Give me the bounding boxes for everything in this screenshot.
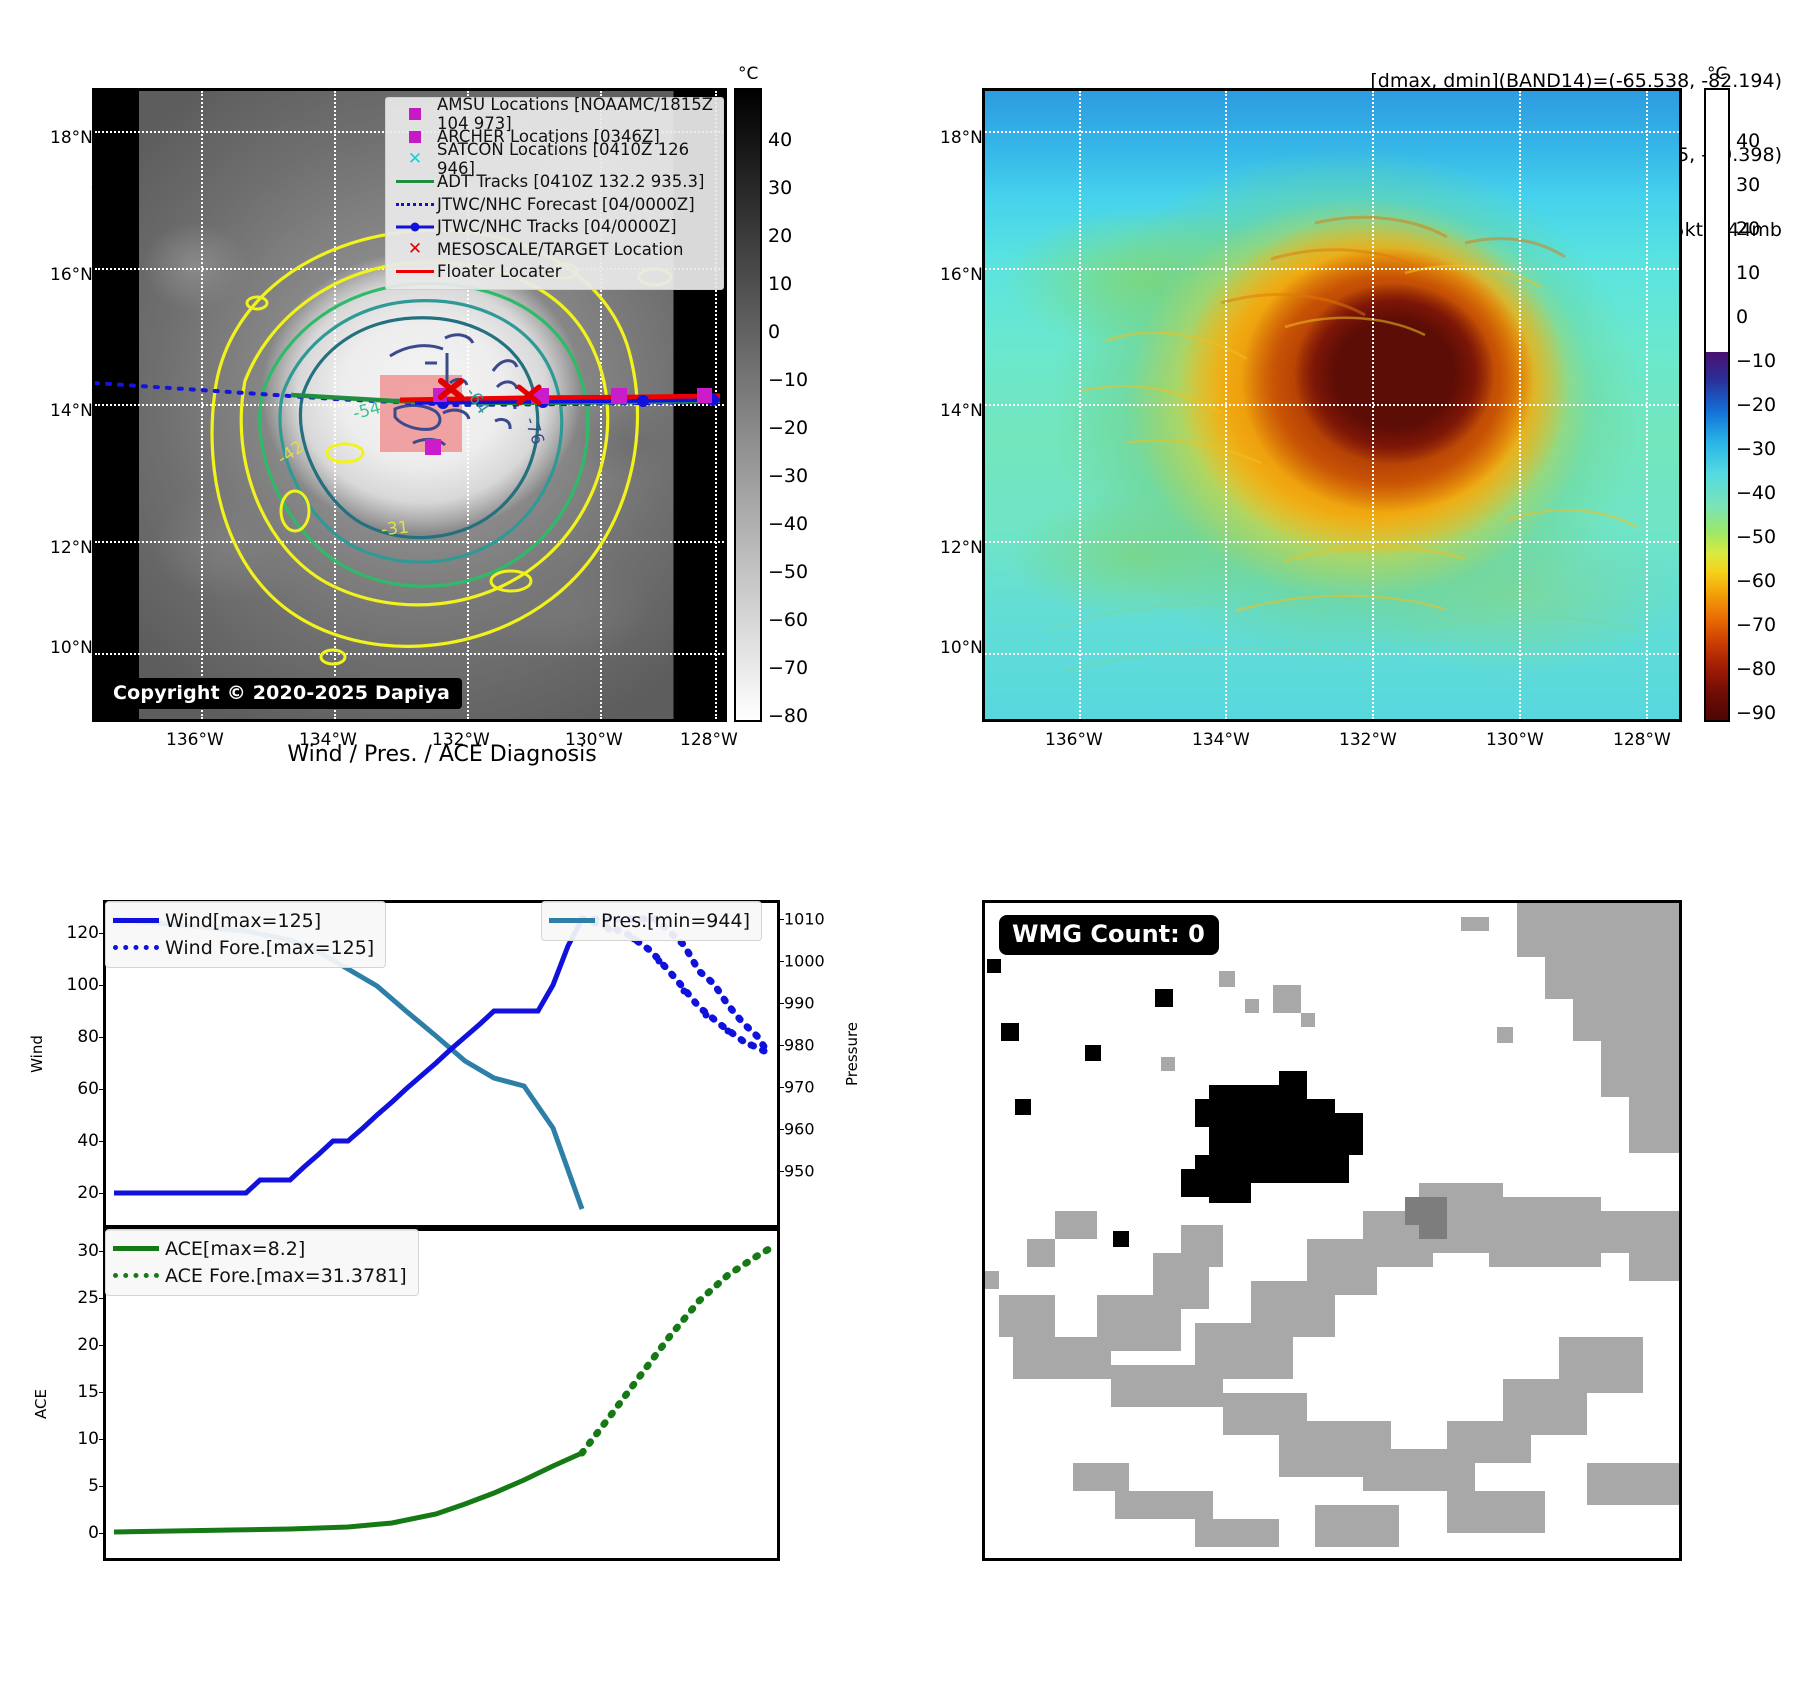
ace-ytick: 0 xyxy=(88,1523,99,1543)
wmg-cell xyxy=(1545,957,1682,999)
contour-label: -31 xyxy=(380,518,410,541)
tick-mark xyxy=(99,1193,106,1194)
wmg-cell xyxy=(1245,999,1259,1013)
cb-tick: 20 xyxy=(1736,218,1760,240)
wmg-cell xyxy=(1155,989,1173,1007)
cb-tick: 20 xyxy=(768,225,792,247)
graticule-line xyxy=(985,404,1679,406)
wmg-core xyxy=(1307,1099,1335,1127)
wmg-cell xyxy=(1419,1225,1447,1239)
graticule-line xyxy=(985,131,1679,133)
wmg-cell xyxy=(1461,917,1489,931)
pressure-ytick: 1000 xyxy=(784,952,825,971)
awv-colorbar[interactable] xyxy=(1704,88,1730,722)
dotted-line-icon xyxy=(113,945,165,950)
legend-label: ACE Fore.[max=31.3781] xyxy=(165,1265,407,1287)
cb-tick: −30 xyxy=(1736,438,1776,460)
legend-label: ACE[max=8.2] xyxy=(165,1238,305,1260)
square-marker-icon xyxy=(393,108,437,120)
pressure-ytick: 990 xyxy=(784,994,815,1013)
wmg-cell xyxy=(1085,1045,1101,1061)
wind-ytick: 100 xyxy=(67,975,99,995)
tick-mark xyxy=(99,1439,106,1440)
legend-item-satcon: ✕ SATCON Locations [0410Z 126 946] xyxy=(393,148,714,171)
cb-tick: 0 xyxy=(768,321,780,343)
legend-label: MESOSCALE/TARGET Location xyxy=(437,240,683,259)
dotted-line-icon xyxy=(113,1273,165,1278)
wmg-cell xyxy=(1573,1211,1682,1253)
wmg-cell xyxy=(1301,1013,1315,1027)
ace-axis-title: ACE xyxy=(32,1389,50,1419)
cb-tick: 0 xyxy=(1736,306,1748,328)
pressure-ytick: 980 xyxy=(784,1036,815,1055)
square-marker-icon xyxy=(393,131,437,143)
tick-mark xyxy=(99,985,106,986)
wmg-cell xyxy=(987,959,1001,973)
ir-lat-tick: 10°N xyxy=(50,638,93,658)
awv-satellite-image[interactable] xyxy=(982,88,1682,722)
legend-item-amsu: AMSU Locations [NOAAMC/1815Z 104 973] xyxy=(393,103,714,126)
solid-line-icon xyxy=(393,180,437,183)
wmg-cell xyxy=(1219,971,1235,987)
legend-item-pressure: Pres.[min=944] xyxy=(549,907,750,934)
wind-axis-title: Wind xyxy=(28,1035,46,1073)
ir-lat-tick: 12°N xyxy=(50,538,93,558)
legend-item-forecast: JTWC/NHC Forecast [04/0000Z] xyxy=(393,193,714,216)
ir-satellite-image[interactable]: x -42 -54 -64 -76 -31 AMSU Locations [NO… xyxy=(92,88,727,722)
wmg-cell xyxy=(1629,1097,1682,1153)
wmg-cell xyxy=(1405,1197,1447,1225)
legend-item-tracks: JTWC/NHC Tracks [04/0000Z] xyxy=(393,216,714,239)
wmg-cell xyxy=(1315,1505,1399,1547)
ace-ytick: 10 xyxy=(77,1429,99,1449)
pressure-ytick: 950 xyxy=(784,1162,815,1181)
pressure-legend: Pres.[min=944] xyxy=(541,901,762,941)
wmg-count-badge: WMG Count: 0 xyxy=(999,915,1219,955)
wind-pressure-chart[interactable]: 20 40 60 80 100 120 1010 1000 990 980 97… xyxy=(103,900,780,1228)
cb-tick: −50 xyxy=(768,561,808,583)
wmg-cell xyxy=(1015,1099,1031,1115)
tick-mark xyxy=(99,1486,106,1487)
awv-lat-tick: 12°N xyxy=(940,538,983,558)
solid-line-icon xyxy=(113,918,165,923)
wmg-cell xyxy=(1181,1225,1223,1267)
cb-tick: −60 xyxy=(1736,570,1776,592)
legend-item-ace-forecast: ACE Fore.[max=31.3781] xyxy=(113,1262,407,1289)
awv-texture-overlay xyxy=(985,91,1682,722)
awv-lon-tick: 132°W xyxy=(1339,730,1397,750)
wmg-cell xyxy=(985,1271,999,1289)
wmg-cell xyxy=(1273,985,1301,1013)
wmg-cell xyxy=(1161,1057,1175,1071)
awv-lon-tick: 130°W xyxy=(1486,730,1544,750)
cb-tick: 40 xyxy=(1736,130,1760,152)
awv-lat-tick: 10°N xyxy=(940,638,983,658)
awv-colorbar-unit: °C xyxy=(1707,64,1727,84)
wmg-cell xyxy=(1001,1023,1019,1041)
solid-line-icon xyxy=(393,270,437,273)
ir-legend: AMSU Locations [NOAAMC/1815Z 104 973] AR… xyxy=(385,97,724,290)
graticule-line xyxy=(985,653,1679,655)
cb-tick: 30 xyxy=(768,177,792,199)
tick-mark xyxy=(777,961,784,962)
tick-mark xyxy=(99,1392,106,1393)
pressure-ytick: 960 xyxy=(784,1120,815,1139)
x-marker-icon: ✕ xyxy=(393,151,437,168)
solid-line-icon xyxy=(113,1246,165,1251)
wind-ytick: 60 xyxy=(77,1079,99,1099)
wmg-cell xyxy=(1559,1337,1643,1393)
awv-lat-tick: 14°N xyxy=(940,401,983,421)
wmg-cell xyxy=(1601,1041,1682,1097)
ir-lat-tick: 14°N xyxy=(50,401,93,421)
cb-tick: −10 xyxy=(1736,350,1776,372)
ace-ytick: 5 xyxy=(88,1476,99,1496)
legend-label: JTWC/NHC Forecast [04/0000Z] xyxy=(437,195,695,214)
wind-legend: Wind[max=125] Wind Fore.[max=125] xyxy=(105,901,386,968)
wind-ytick: 20 xyxy=(77,1183,99,1203)
x-marker-icon: ✕ xyxy=(393,241,437,258)
graticule-line xyxy=(985,541,1679,543)
graticule-line xyxy=(985,268,1679,270)
tick-mark xyxy=(777,1087,784,1088)
line-with-dot-icon xyxy=(393,221,437,233)
cb-tick: −20 xyxy=(768,417,808,439)
tick-mark xyxy=(99,1089,106,1090)
wind-ytick: 120 xyxy=(67,923,99,943)
cb-tick: −60 xyxy=(768,609,808,631)
wind-ytick: 40 xyxy=(77,1131,99,1151)
cb-tick: −70 xyxy=(1736,614,1776,636)
wmg-cell xyxy=(1587,1463,1682,1505)
wmg-core xyxy=(1209,1183,1251,1203)
wmg-cell xyxy=(1055,1211,1097,1239)
ace-ytick: 30 xyxy=(77,1241,99,1261)
cb-tick: −30 xyxy=(768,465,808,487)
legend-item-ace: ACE[max=8.2] xyxy=(113,1235,407,1262)
cb-tick: −90 xyxy=(1736,702,1776,724)
tick-mark xyxy=(777,1045,784,1046)
legend-item-mesoscale: ✕ MESOSCALE/TARGET Location xyxy=(393,238,714,261)
cb-tick: −80 xyxy=(768,705,808,727)
legend-label: Wind Fore.[max=125] xyxy=(165,937,374,959)
tick-mark xyxy=(777,1003,784,1004)
awv-lon-tick: 136°W xyxy=(1045,730,1103,750)
dotted-line-icon xyxy=(393,203,437,206)
cb-tick: −20 xyxy=(1736,394,1776,416)
wmg-cell xyxy=(999,1295,1055,1337)
diagnosis-title: Wind / Pres. / ACE Diagnosis xyxy=(92,742,792,767)
legend-item-wind: Wind[max=125] xyxy=(113,907,374,934)
tick-mark xyxy=(99,1533,106,1534)
legend-label: Pres.[min=944] xyxy=(601,910,750,932)
ir-lat-tick: 18°N xyxy=(50,128,93,148)
ir-colorbar-unit: °C xyxy=(738,64,758,84)
ace-ytick: 15 xyxy=(77,1382,99,1402)
wmg-core xyxy=(1279,1071,1307,1099)
tick-mark xyxy=(99,1141,106,1142)
legend-label: Floater Locater xyxy=(437,262,562,281)
ace-ytick: 25 xyxy=(77,1288,99,1308)
pressure-ytick: 970 xyxy=(784,1078,815,1097)
wmg-cell xyxy=(1517,903,1682,957)
cb-tick: −40 xyxy=(768,513,808,535)
cb-tick: −10 xyxy=(768,369,808,391)
cb-tick: 10 xyxy=(768,273,792,295)
pressure-axis-title: Pressure xyxy=(843,1022,861,1086)
wind-ytick: 80 xyxy=(77,1027,99,1047)
wmg-map[interactable]: WMG Count: 0 xyxy=(982,900,1682,1561)
wmg-cell xyxy=(1629,1253,1682,1281)
wmg-cell xyxy=(1115,1491,1213,1519)
legend-item-wind-forecast: Wind Fore.[max=125] xyxy=(113,934,374,961)
tick-mark xyxy=(777,919,784,920)
cb-tick: −50 xyxy=(1736,526,1776,548)
cb-tick: 10 xyxy=(1736,262,1760,284)
wmg-cell xyxy=(1195,1519,1279,1547)
cb-tick: −40 xyxy=(1736,482,1776,504)
cb-tick: −70 xyxy=(768,657,808,679)
wmg-cell xyxy=(1447,1491,1545,1533)
tick-mark xyxy=(777,1129,784,1130)
awv-lat-tick: 16°N xyxy=(940,265,983,285)
wmg-cell xyxy=(1573,999,1682,1041)
wmg-cell xyxy=(1113,1231,1129,1247)
legend-item-floater: Floater Locater xyxy=(393,261,714,284)
solid-line-icon xyxy=(549,918,601,923)
wmg-cell xyxy=(1497,1027,1513,1043)
ace-ytick: 20 xyxy=(77,1335,99,1355)
awv-lon-tick: 128°W xyxy=(1613,730,1671,750)
ir-colorbar[interactable] xyxy=(734,88,762,722)
cb-tick: 40 xyxy=(768,129,792,151)
pressure-ytick: 1010 xyxy=(784,910,825,929)
legend-label: JTWC/NHC Tracks [04/0000Z] xyxy=(437,217,677,236)
tick-mark xyxy=(99,1345,106,1346)
ir-lat-tick: 16°N xyxy=(50,265,93,285)
tick-mark xyxy=(99,1037,106,1038)
cb-tick: −80 xyxy=(1736,658,1776,680)
cb-tick: 30 xyxy=(1736,174,1760,196)
awv-lat-tick: 18°N xyxy=(940,128,983,148)
ace-legend: ACE[max=8.2] ACE Fore.[max=31.3781] xyxy=(105,1229,419,1296)
tick-mark xyxy=(777,1171,784,1172)
wmg-cell xyxy=(1073,1463,1129,1491)
awv-lon-tick: 134°W xyxy=(1192,730,1250,750)
legend-item-adt: ADT Tracks [0410Z 132.2 935.3] xyxy=(393,171,714,194)
ace-chart[interactable]: 0 5 10 15 20 25 30 ACE[max=8.2] ACE Fore… xyxy=(103,1228,780,1561)
copyright-banner: Copyright © 2020-2025 Dapiya xyxy=(103,678,462,709)
legend-label: ADT Tracks [0410Z 132.2 935.3] xyxy=(437,172,704,191)
legend-label: Wind[max=125] xyxy=(165,910,321,932)
tick-mark xyxy=(99,1298,106,1299)
wmg-cell xyxy=(1027,1239,1055,1267)
